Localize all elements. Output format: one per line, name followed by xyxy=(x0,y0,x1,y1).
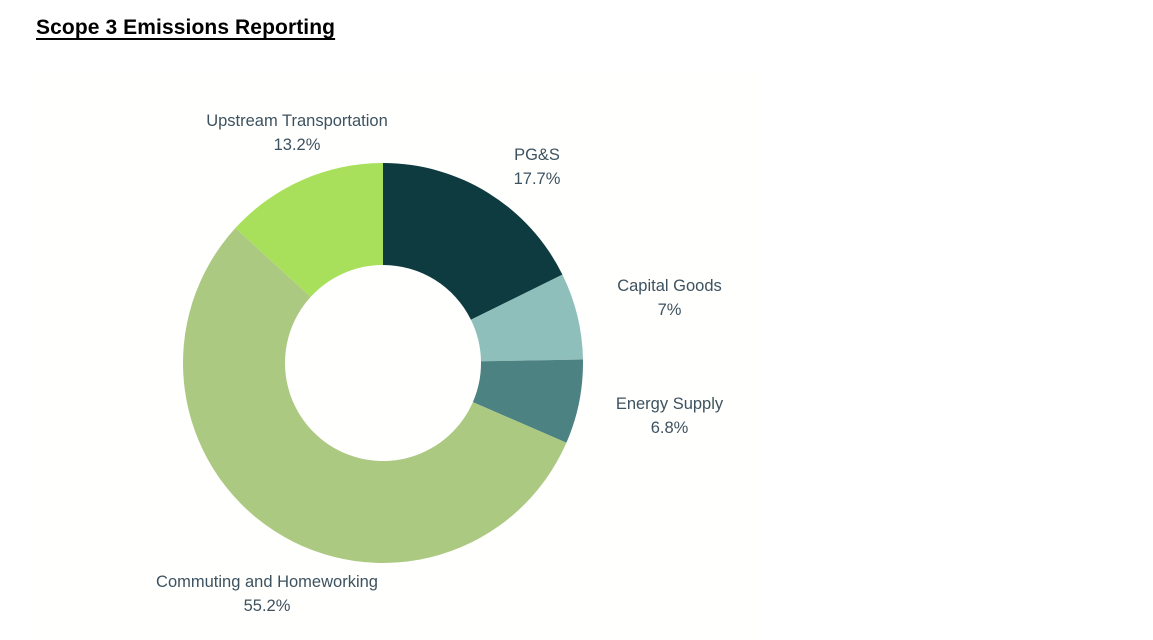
slice-label-energy-supply: Energy Supply 6.8% xyxy=(582,393,757,441)
slice-label-capital-goods-value: 7% xyxy=(582,299,757,323)
slice-label-commuting-and-homeworking-name: Commuting and Homeworking xyxy=(97,571,437,595)
slice-label-upstream-transportation-value: 13.2% xyxy=(172,134,422,158)
slice-label-capital-goods: Capital Goods 7% xyxy=(582,275,757,323)
slice-label-upstream-transportation: Upstream Transportation 13.2% xyxy=(172,110,422,158)
slice-label-pgs: PG&S 17.7% xyxy=(452,144,622,192)
slice-label-upstream-transportation-name: Upstream Transportation xyxy=(172,110,422,134)
slice-label-pgs-name: PG&S xyxy=(452,144,622,168)
slice-label-commuting-and-homeworking: Commuting and Homeworking 55.2% xyxy=(97,571,437,619)
page-title: Scope 3 Emissions Reporting xyxy=(36,16,335,40)
donut-chart-panel: PG&S 17.7% Capital Goods 7% Energy Suppl… xyxy=(32,72,761,640)
slice-label-energy-supply-value: 6.8% xyxy=(582,417,757,441)
slice-label-pgs-value: 17.7% xyxy=(452,168,622,192)
donut-slice-group xyxy=(183,163,583,563)
slice-label-energy-supply-name: Energy Supply xyxy=(582,393,757,417)
slice-label-capital-goods-name: Capital Goods xyxy=(582,275,757,299)
slice-label-commuting-and-homeworking-value: 55.2% xyxy=(97,595,437,619)
